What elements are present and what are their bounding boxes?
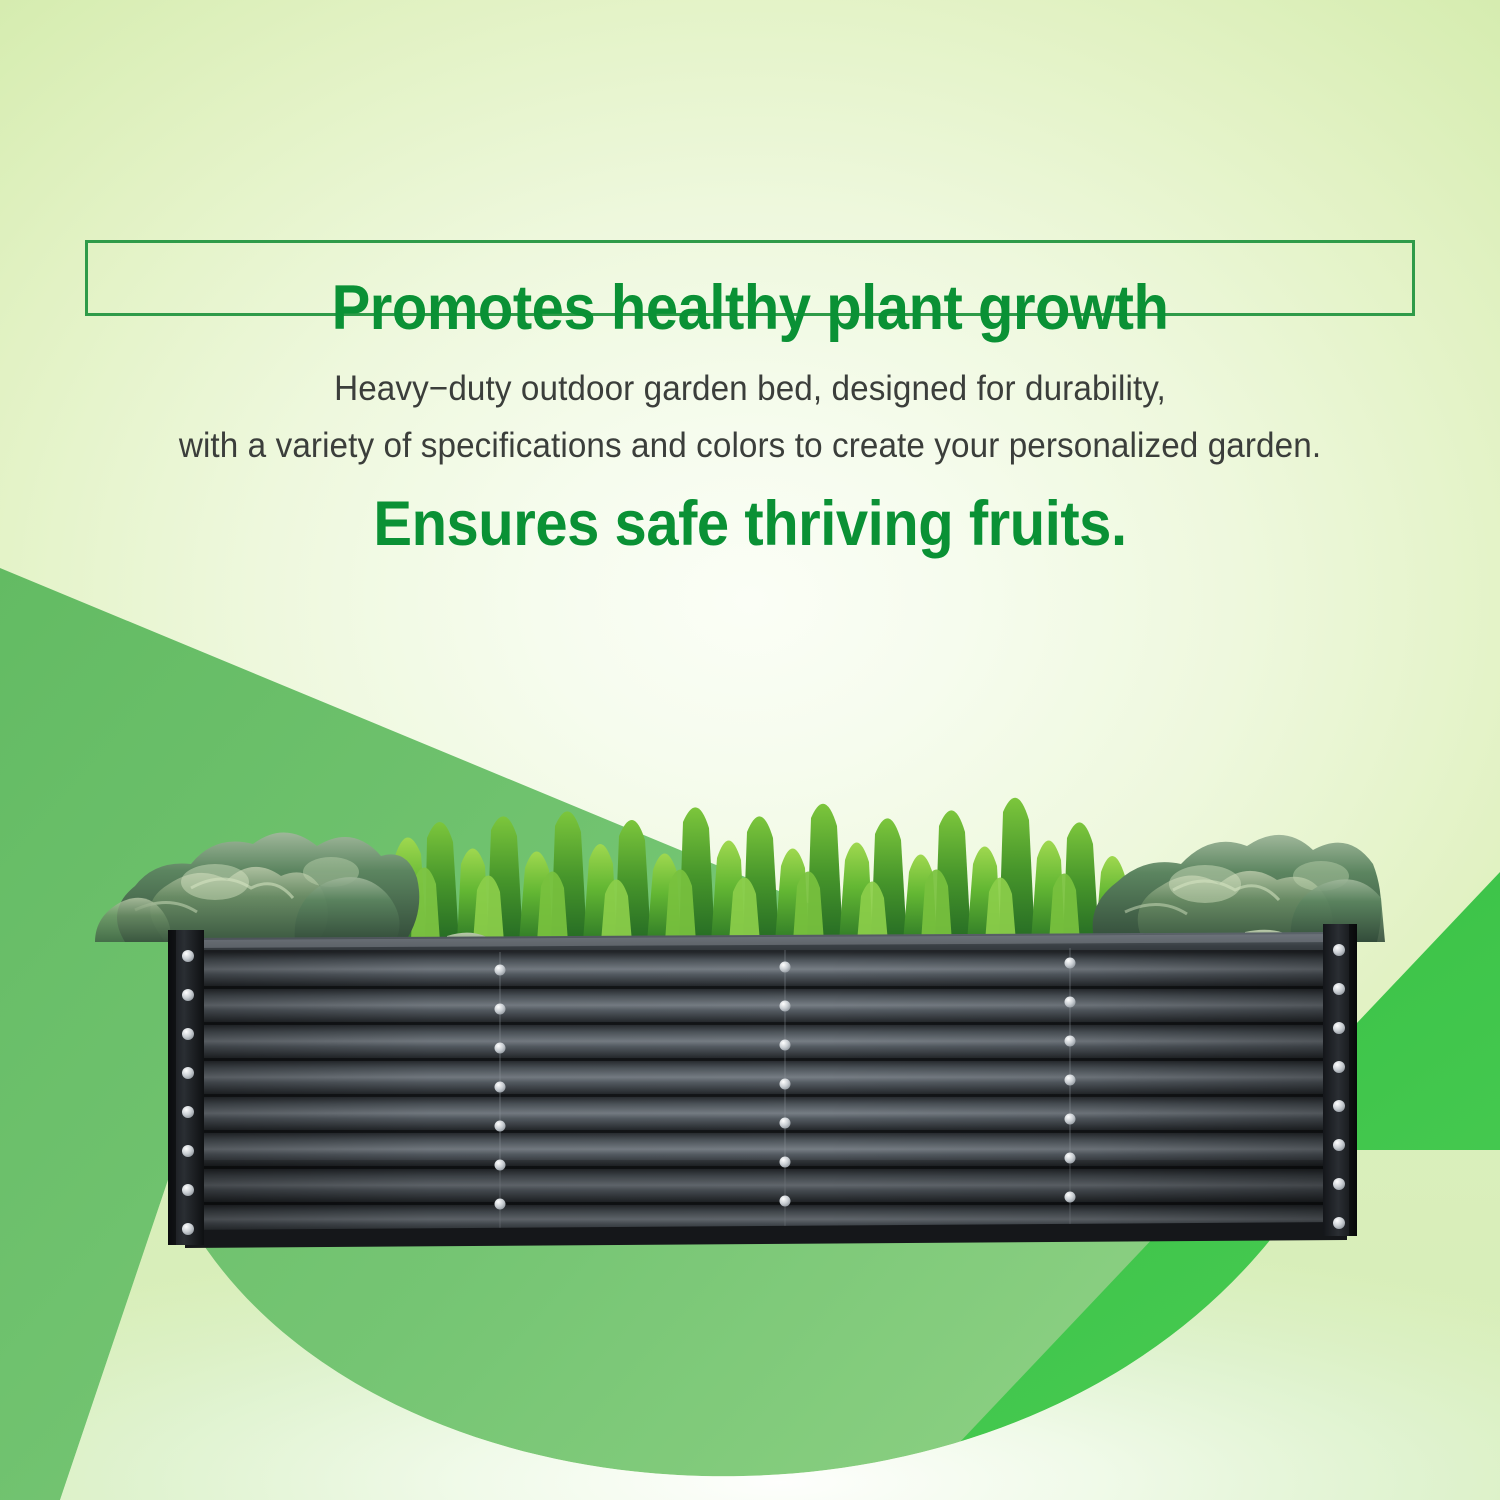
subcopy-line-2: with a variety of specifications and col… <box>38 417 1463 474</box>
product-marketing-banner: Promotes healthy plant growth Ensures sa… <box>0 0 1500 1500</box>
headline-line-2: Ensures safe thriving fruits. <box>60 488 1440 560</box>
product-image <box>95 760 1385 1260</box>
subcopy-line-1: Heavy−duty outdoor garden bed, designed … <box>38 360 1463 417</box>
bed-corrugated-panel <box>170 948 1355 1236</box>
bed-right-post <box>1323 924 1357 1236</box>
foliage-center-lettuce <box>395 798 1129 942</box>
foliage-left-kale <box>95 832 419 942</box>
headline-line-1: Promotes healthy plant growth <box>60 272 1440 344</box>
bed-left-post <box>168 930 204 1245</box>
garden-bed-body <box>168 924 1357 1248</box>
raised-garden-bed-illustration <box>95 760 1385 1260</box>
subcopy: Heavy−duty outdoor garden bed, designed … <box>38 360 1463 474</box>
